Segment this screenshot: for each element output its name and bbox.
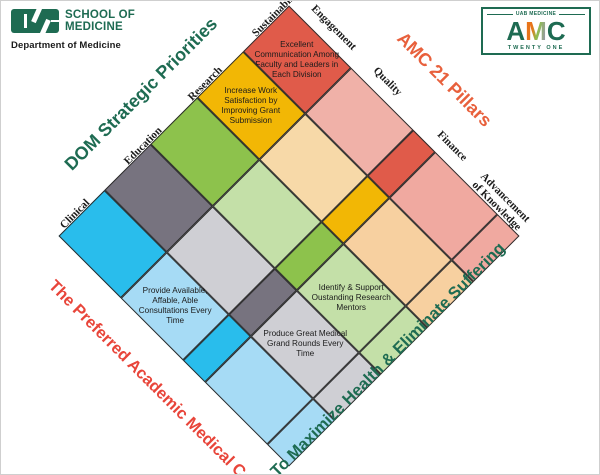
strategy-matrix: Excellent Communication Among Faculty an… (58, 0, 519, 474)
amc-letter-m: M (525, 18, 547, 44)
uab-logo-mark-icon (11, 9, 59, 33)
matrix-cell-label: Provide Available, Affable, Able Consult… (131, 286, 217, 326)
matrix-cell-label: Increase Work Satisfaction by Improving … (207, 85, 293, 125)
matrix-cell-label: Produce Great Medical Grand Rounds Every… (262, 329, 348, 359)
amc-letter-c: C (547, 18, 566, 44)
slide-canvas: SCHOOL OF MEDICINE Department of Medicin… (0, 0, 600, 475)
amc-rule-right-icon (559, 14, 585, 15)
matrix-cell-label: Excellent Communication Among Faculty an… (254, 39, 340, 79)
title-amc-21-pillars: AMC 21 Pillars (393, 28, 496, 131)
matrix-cell-label: Identify & Support Oustanding Research M… (308, 283, 394, 313)
